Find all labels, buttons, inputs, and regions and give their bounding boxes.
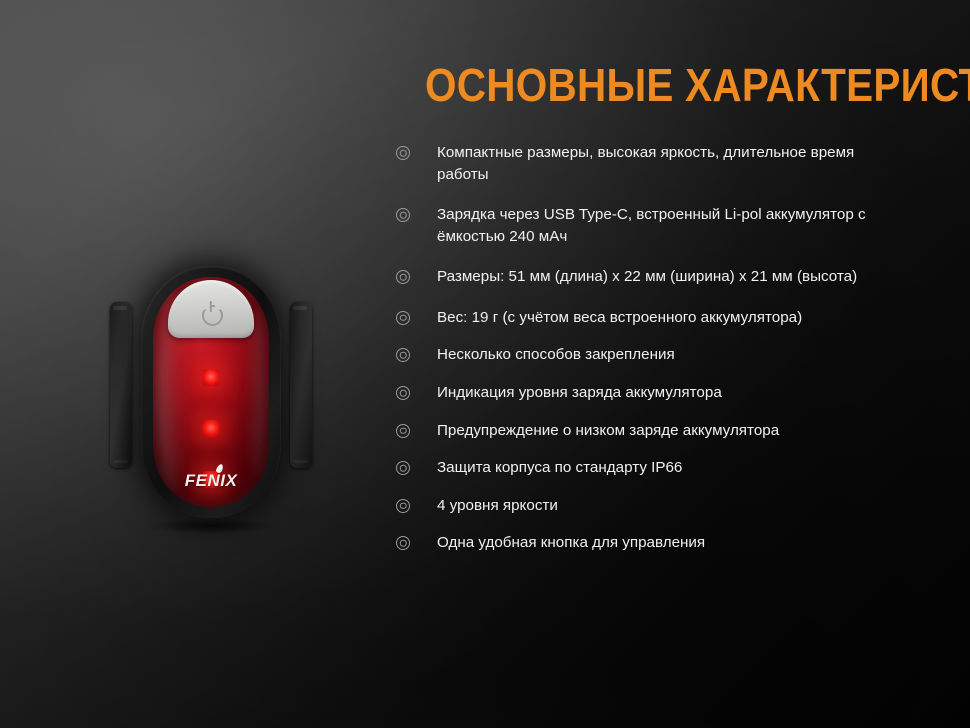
feature-text: Компактные размеры, высокая яркость, дли… <box>437 142 907 185</box>
list-item: Зарядка через USB Type-C, встроенный Li-… <box>396 204 936 247</box>
double-circle-bullet-icon <box>396 208 410 222</box>
led-emitter <box>203 420 220 437</box>
feature-text: Вес: 19 г (с учётом веса встроенного акк… <box>437 307 802 329</box>
feature-text: Размеры: 51 мм (длина) x 22 мм (ширина) … <box>437 266 857 288</box>
feature-text: Одна удобная кнопка для управления <box>437 532 705 554</box>
double-circle-bullet-icon <box>396 311 410 325</box>
feature-text: Несколько способов закрепления <box>437 344 675 366</box>
mounting-clip-right <box>290 302 312 468</box>
double-circle-bullet-icon <box>396 386 410 400</box>
list-item: Вес: 19 г (с учётом веса встроенного акк… <box>396 307 936 329</box>
double-circle-bullet-icon <box>396 424 410 438</box>
list-item: 4 уровня яркости <box>396 495 936 517</box>
feature-list: Компактные размеры, высокая яркость, дли… <box>396 142 936 554</box>
feature-text: Индикация уровня заряда аккумулятора <box>437 382 722 404</box>
list-item: Индикация уровня заряда аккумулятора <box>396 382 936 404</box>
fenix-brand-logo: FENIX <box>185 471 238 491</box>
double-circle-bullet-icon <box>396 499 410 513</box>
double-circle-bullet-icon <box>396 536 410 550</box>
list-item: Защита корпуса по стандарту IP66 <box>396 457 936 479</box>
led-emitter <box>203 369 220 386</box>
product-drop-shadow <box>148 518 274 534</box>
list-item: Предупреждение о низком заряде аккумулят… <box>396 420 936 442</box>
list-item: Размеры: 51 мм (длина) x 22 мм (ширина) … <box>396 266 936 288</box>
lamp-housing: FENIX <box>141 266 281 518</box>
feature-text: 4 уровня яркости <box>437 495 558 517</box>
content-column: ОСНОВНЫЕ ХАРАКТЕРИСТИКИ Компактные разме… <box>396 62 936 570</box>
double-circle-bullet-icon <box>396 270 410 284</box>
feature-text: Предупреждение о низком заряде аккумулят… <box>437 420 779 442</box>
power-icon <box>201 302 221 322</box>
fenix-wordmark: FENIX <box>185 471 238 491</box>
list-item: Несколько способов закрепления <box>396 344 936 366</box>
product-feature-slide: FENIX ОСНОВНЫЕ ХАРАКТЕРИСТИКИ Компактные… <box>0 0 970 728</box>
feature-text: Зарядка через USB Type-C, встроенный Li-… <box>437 204 907 247</box>
mounting-clip-left <box>110 302 132 468</box>
lamp-red-lens: FENIX <box>153 277 269 507</box>
double-circle-bullet-icon <box>396 348 410 362</box>
double-circle-bullet-icon <box>396 146 410 160</box>
power-button[interactable] <box>168 280 254 338</box>
double-circle-bullet-icon <box>396 461 410 475</box>
product-image: FENIX <box>96 258 326 526</box>
list-item: Компактные размеры, высокая яркость, дли… <box>396 142 936 185</box>
page-title: ОСНОВНЫЕ ХАРАКТЕРИСТИКИ <box>425 62 875 108</box>
feature-text: Защита корпуса по стандарту IP66 <box>437 457 682 479</box>
list-item: Одна удобная кнопка для управления <box>396 532 936 554</box>
